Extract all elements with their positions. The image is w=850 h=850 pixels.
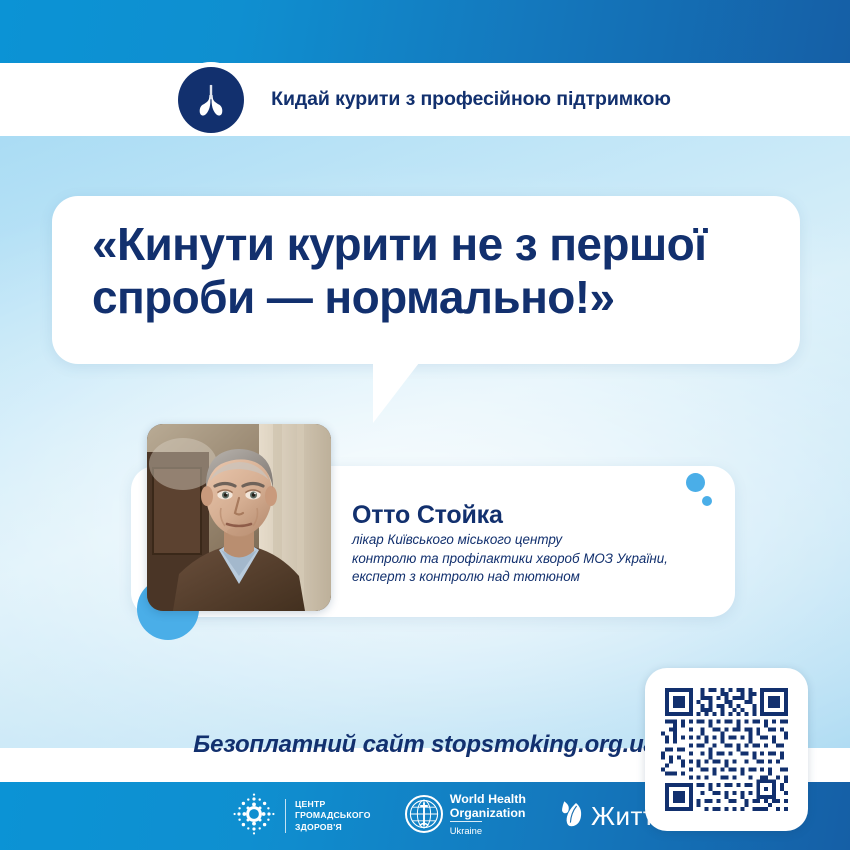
who-country: Ukraine [450,821,482,836]
who-line-1: World Health [450,793,526,807]
who-emblem-icon [405,795,443,838]
who-line-2: Organization [450,807,526,821]
brand-logo [173,62,249,138]
who-wordmark: World Health Organization Ukraine [450,793,526,838]
quote-bubble-tail [373,363,419,423]
top-gradient-band [0,0,850,63]
logo-public-health-center: ЦЕНТР ГРОМАДСЬКОГО ЗДОРОВ'Я [232,792,371,841]
logo-world-health-organization: World Health Organization Ukraine [405,793,526,838]
lungs-icon [178,67,244,133]
speaker-photo [147,424,331,611]
accent-dot-small [702,496,712,506]
quote-line-2: спроби — нормально!» [92,271,782,324]
leaf-icon [560,799,586,834]
header-title: Кидай курити з професійною підтримкою [271,88,671,111]
cgz-wordmark: ЦЕНТР ГРОМАДСЬКОГО ЗДОРОВ'Я [285,799,371,833]
header: Кидай курити з професійною підтримкою [0,63,850,136]
cgz-line-3: ЗДОРОВ'Я [295,822,371,833]
speaker-role-line-3: експерт з контролю над тютюном [352,568,724,587]
poster-canvas: Кидай курити з професійною підтримкою «К… [0,0,850,850]
speaker-role: лікар Київського міського центру контрол… [352,531,724,587]
speaker-role-line-1: лікар Київського міського центру [352,531,724,550]
quote-line-1: «Кинути курити не з першої [92,218,782,271]
speaker-name: Отто Стойка [352,501,503,530]
qr-code-icon [661,684,792,815]
cgz-dots-icon [232,792,276,841]
qr-code-card[interactable] [645,668,808,831]
cgz-line-1: ЦЕНТР [295,799,371,810]
accent-dot-large [686,473,705,492]
quote-text: «Кинути курити не з першої спроби — норм… [92,218,782,325]
cgz-line-2: ГРОМАДСЬКОГО [295,810,371,821]
speaker-role-line-2: контролю та профілактики хвороб МОЗ Укра… [352,550,724,569]
